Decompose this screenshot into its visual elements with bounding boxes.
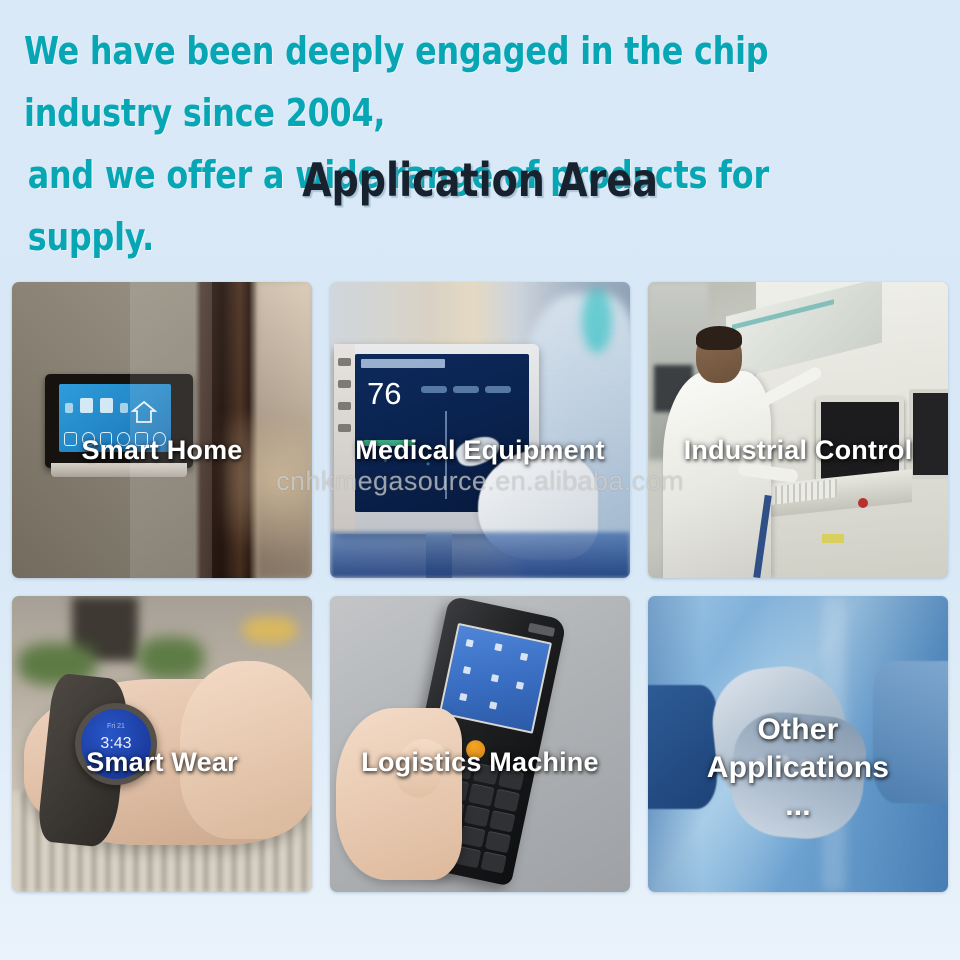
monitor-pill-row: [421, 386, 511, 393]
card-label-smart-wear: Smart Wear: [12, 746, 312, 778]
smart-home-photo: [12, 282, 312, 578]
smart-wear-photo: Fri 21 3:43: [12, 596, 312, 892]
medical-equipment-photo: 76: [330, 282, 630, 578]
background-hedge-right: [138, 637, 204, 678]
technician-hair: [696, 326, 742, 350]
card-label-logistics-machine: Logistics Machine: [330, 746, 630, 778]
application-card-industrial-control[interactable]: Industrial Control: [648, 282, 948, 578]
card-label-medical-equipment: Medical Equipment: [330, 434, 630, 466]
light-sheet-overlay: [130, 282, 212, 578]
other-applications-line-2: Applications: [648, 749, 948, 787]
card-label-industrial-control: Industrial Control: [648, 434, 948, 466]
card-label-other-applications: Other Applications ...: [648, 711, 948, 825]
console-yellow-label: [822, 534, 844, 543]
monitor-reading: 76: [367, 378, 401, 409]
background-teal-cap: [582, 288, 612, 353]
headline-line-1: We have been deeply engaged in the chip …: [24, 29, 768, 135]
application-area-page: We have been deeply engaged in the chip …: [0, 0, 960, 960]
logistics-machine-photo: [330, 596, 630, 892]
application-card-grid: Smart Home 76: [12, 282, 948, 892]
scanner-screen: [439, 622, 552, 734]
panel-widget-row: [65, 398, 128, 413]
application-card-other-applications[interactable]: Other Applications ...: [648, 596, 948, 892]
other-applications-line-1: Other: [648, 711, 948, 749]
background-warm-light: [243, 617, 297, 644]
application-card-smart-home[interactable]: Smart Home: [12, 282, 312, 578]
application-card-medical-equipment[interactable]: 76 Medical Equipment: [330, 282, 630, 578]
application-card-logistics-machine[interactable]: Logistics Machine: [330, 596, 630, 892]
application-card-smart-wear[interactable]: Fri 21 3:43 Smart Wear: [12, 596, 312, 892]
page-title: Application Area: [38, 154, 921, 206]
card-label-smart-home: Smart Home: [12, 434, 312, 466]
blue-surgical-drape: [330, 532, 630, 578]
holding-hand: [336, 708, 462, 880]
watch-date: Fri 21: [81, 723, 151, 730]
industrial-control-photo: [648, 282, 948, 578]
other-applications-line-3: ...: [648, 787, 948, 825]
scanner-speaker: [528, 623, 555, 637]
headline: We have been deeply engaged in the chip …: [24, 20, 889, 268]
monitor-top-bar: [361, 359, 445, 368]
